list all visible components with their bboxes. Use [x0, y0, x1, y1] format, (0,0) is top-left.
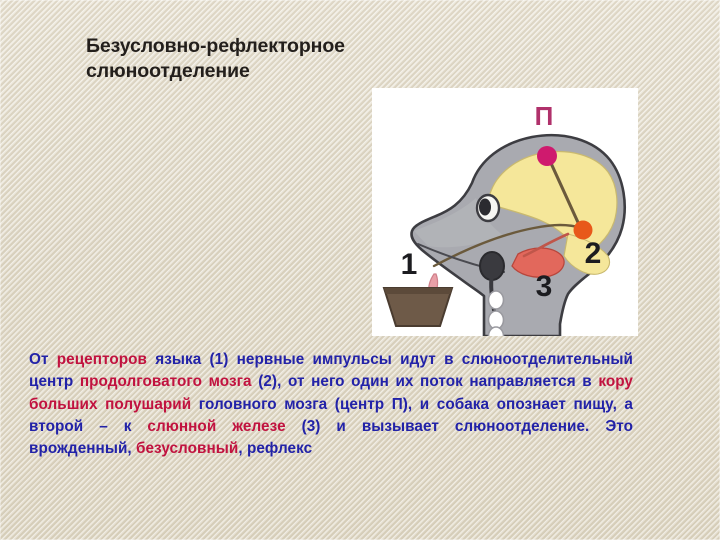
- slide-body-text: От рецепторов языка (1) нервные импульсы…: [29, 349, 633, 460]
- label-cortex-P: П: [535, 101, 554, 131]
- dog-head-anatomy-svg: П 1 2 3: [372, 88, 638, 336]
- slide-title-line-2: слюноотделение: [86, 59, 416, 84]
- presentation-slide: Безусловно-рефлекторное слюноотделение: [0, 0, 720, 540]
- cortex-point-marker: [537, 146, 557, 166]
- body-text-segment-7: слюнной железе: [147, 418, 301, 435]
- slide-title-line-1: Безусловно-рефлекторное: [86, 34, 416, 59]
- body-text-segment-0: От: [29, 351, 57, 368]
- slide-title: Безусловно-рефлекторное слюноотделение: [86, 34, 416, 84]
- label-tongue-1: 1: [401, 248, 418, 281]
- label-medulla-2: 2: [585, 237, 602, 270]
- body-text-segment-9: безусловный: [136, 440, 238, 457]
- dog-eye-pupil: [479, 199, 491, 216]
- body-text-segment-1: рецепторов: [57, 351, 156, 368]
- body-text-segment-3: продолговатого мозга: [80, 373, 258, 390]
- label-gland-3: 3: [536, 270, 553, 303]
- body-paragraph: От рецепторов языка (1) нервные импульсы…: [29, 349, 633, 460]
- reflex-diagram-image: П 1 2 3: [372, 88, 638, 336]
- body-text-segment-10: , рефлекс: [238, 440, 312, 457]
- saliva-droplet-1: [489, 291, 504, 309]
- food-bowl-rim: [384, 288, 452, 294]
- body-text-segment-4: (2), от него один их поток направляется …: [258, 373, 598, 390]
